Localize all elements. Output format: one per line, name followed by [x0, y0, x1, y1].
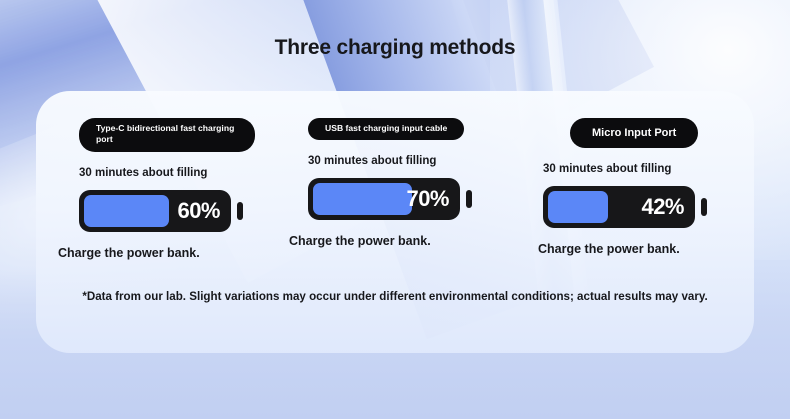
battery-body: 70% — [308, 178, 460, 220]
battery-percent-label: 42% — [641, 194, 684, 220]
method-caption: Charge the power bank. — [289, 234, 514, 248]
methods-container: Type-C bidirectional fast charging port … — [36, 91, 754, 291]
battery-indicator: 60% — [79, 190, 275, 232]
battery-terminal-icon — [701, 198, 707, 216]
battery-body: 42% — [543, 186, 695, 228]
method-badge: USB fast charging input cable — [308, 118, 464, 140]
method-caption: Charge the power bank. — [58, 246, 275, 260]
battery-percent-label: 70% — [406, 186, 449, 212]
page-title: Three charging methods — [0, 36, 790, 60]
method-subtitle: 30 minutes about filling — [543, 163, 753, 175]
battery-fill — [313, 183, 412, 215]
method-card-micro: Micro Input Port 30 minutes about fillin… — [514, 91, 753, 291]
badge-wrapper: Micro Input Port — [570, 118, 753, 148]
method-badge: Type-C bidirectional fast charging port — [79, 118, 255, 152]
method-caption: Charge the power bank. — [538, 242, 753, 256]
battery-indicator: 70% — [308, 178, 514, 220]
battery-indicator: 42% — [543, 186, 753, 228]
method-subtitle: 30 minutes about filling — [308, 155, 514, 167]
promo-graphic: Three charging methods Type-C bidirectio… — [0, 0, 790, 419]
battery-fill — [548, 191, 608, 223]
battery-body: 60% — [79, 190, 231, 232]
method-card-type-c: Type-C bidirectional fast charging port … — [36, 91, 275, 291]
battery-fill — [84, 195, 169, 227]
method-subtitle: 30 minutes about filling — [79, 167, 275, 179]
method-card-usb: USB fast charging input cable 30 minutes… — [275, 91, 514, 291]
method-badge: Micro Input Port — [570, 118, 698, 148]
disclaimer-text: *Data from our lab. Slight variations ma… — [0, 290, 790, 303]
badge-wrapper: USB fast charging input cable — [308, 118, 514, 140]
battery-percent-label: 60% — [177, 198, 220, 224]
battery-terminal-icon — [466, 190, 472, 208]
badge-wrapper: Type-C bidirectional fast charging port — [79, 118, 275, 152]
battery-terminal-icon — [237, 202, 243, 220]
